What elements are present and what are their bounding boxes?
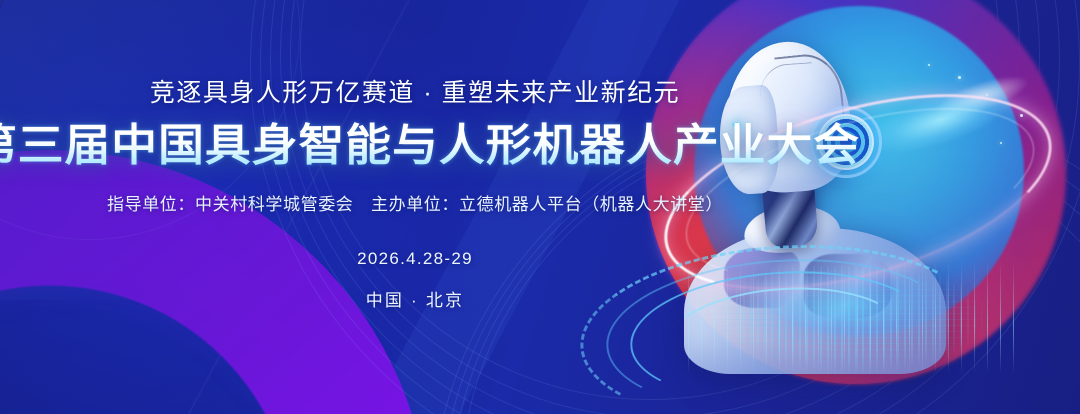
banner-text-block: 竞逐具身人形万亿赛道 · 重塑未来产业新纪元 第三届中国具身智能与人形机器人产业…	[0, 0, 830, 414]
organizers-line: 指导单位：中关村科学城管委会 主办单位：立德机器人平台（机器人大讲堂）	[107, 190, 723, 215]
event-date: 2026.4.28-29	[357, 249, 473, 269]
date-location-block: 2026.4.28-29 中国 · 北京	[357, 249, 473, 311]
event-location: 中国 · 北京	[357, 286, 473, 311]
page-title: 第三届中国具身智能与人形机器人产业大会	[0, 121, 860, 170]
conference-banner: 竞逐具身人形万亿赛道 · 重塑未来产业新纪元 第三届中国具身智能与人形机器人产业…	[0, 0, 1080, 414]
banner-subtitle: 竞逐具身人形万亿赛道 · 重塑未来产业新纪元	[150, 78, 680, 108]
